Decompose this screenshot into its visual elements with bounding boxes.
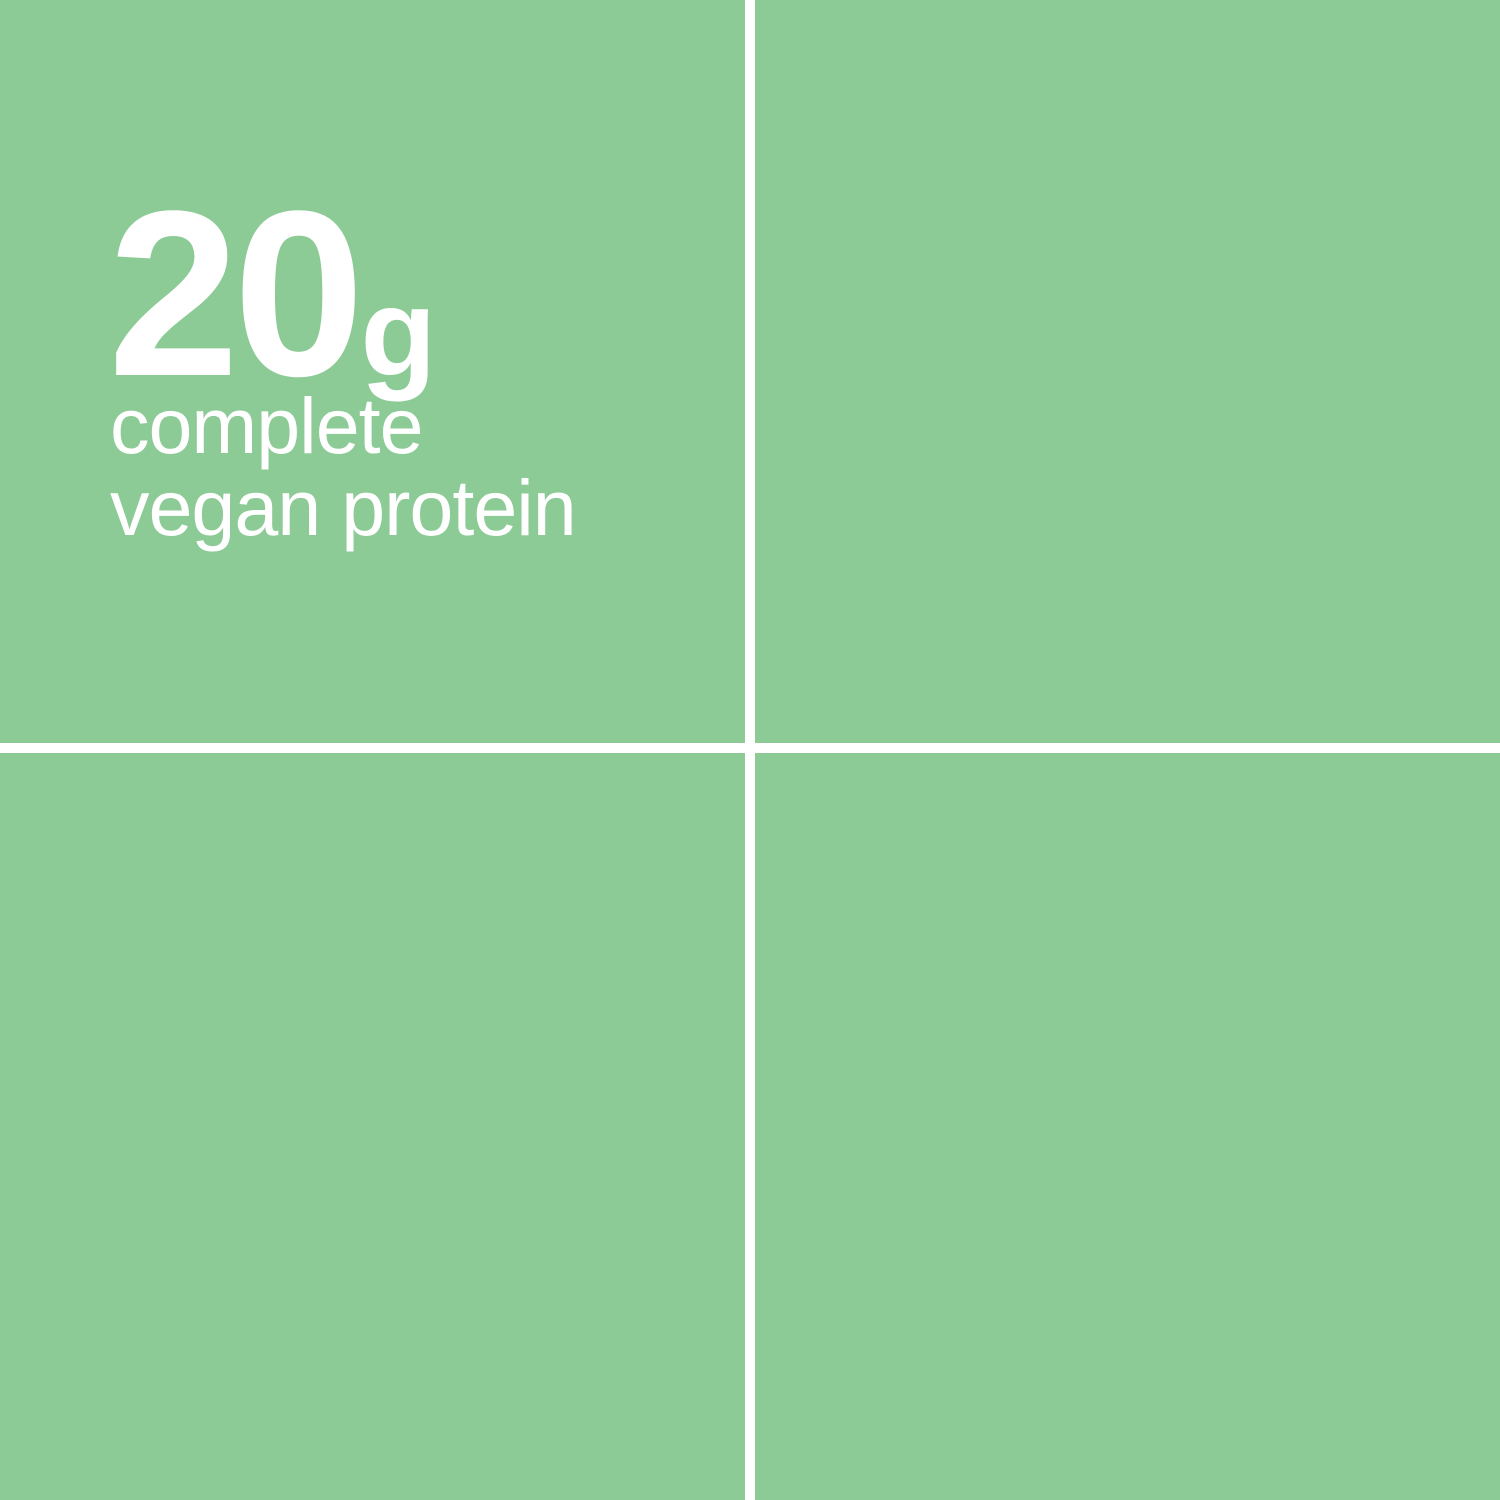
panel-protein: 20g complete vegan protein <box>0 0 745 743</box>
protein-description-line1: complete <box>110 381 423 470</box>
protein-description-line2: vegan protein <box>110 463 576 552</box>
panel-taste: mixes well & tastes great with no bad af… <box>0 753 745 1500</box>
protein-description: complete vegan protein <box>110 385 710 549</box>
protein-stat: 20g <box>108 176 434 412</box>
product-benefits-infographic: 20g complete vegan protein <box>0 0 1500 1500</box>
panel-certifications: NON-GMO GLUTEN FREE SOY FREE DAIRY FREE … <box>755 753 1500 1500</box>
panel-prebiotic: prebiotics to support optimal gut health <box>755 0 1500 743</box>
